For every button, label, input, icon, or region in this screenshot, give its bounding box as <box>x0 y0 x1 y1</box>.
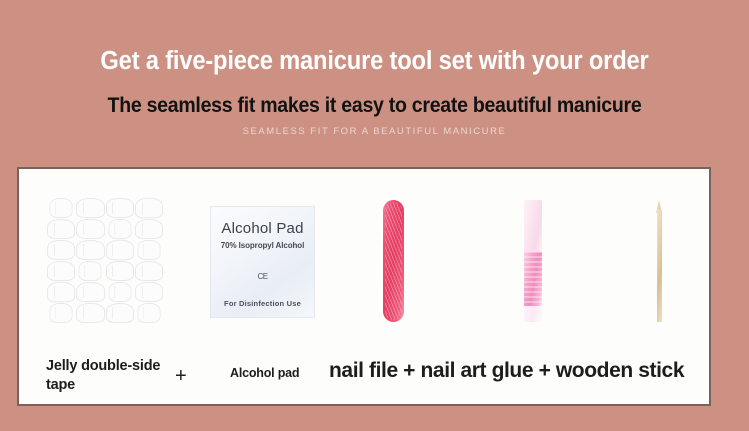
jelly-tab <box>47 219 75 239</box>
product-card: Alcohol Pad 70% Isopropyl Alcohol CE For… <box>17 167 711 406</box>
packet-subtitle: 70% Isopropyl Alcohol <box>211 241 314 250</box>
jelly-tab <box>76 303 104 323</box>
jelly-tab <box>135 219 163 239</box>
page-subtitle: The seamless fit makes it easy to create… <box>26 93 723 119</box>
packet-title: Alcohol Pad <box>211 220 314 238</box>
jelly-tab <box>106 303 134 323</box>
jelly-tab <box>76 282 104 302</box>
jelly-tab <box>50 303 73 323</box>
jelly-tab <box>76 219 104 239</box>
jelly-tab <box>137 240 160 260</box>
label-jelly-tape: Jelly double-side tape <box>46 357 170 395</box>
jelly-tab <box>108 282 131 302</box>
jelly-tab <box>135 261 163 281</box>
jelly-tape-sheet-image <box>47 198 163 323</box>
page-title: Get a five-piece manicure tool set with … <box>26 46 723 76</box>
jelly-tab <box>76 198 104 218</box>
packet-usage-text: For Disinfection Use <box>211 299 314 308</box>
packet-ce-mark: CE <box>211 272 314 281</box>
jelly-tab <box>108 219 131 239</box>
glue-base <box>524 306 542 322</box>
jelly-tab <box>79 261 102 281</box>
glue-body <box>524 252 542 308</box>
jelly-tab <box>135 198 163 219</box>
jelly-tab <box>50 198 73 218</box>
label-alcohol-pad: Alcohol pad <box>230 366 299 380</box>
jelly-tab <box>76 240 104 260</box>
nail-art-glue-image <box>524 200 542 322</box>
jelly-tab <box>106 198 134 218</box>
stick-shaft <box>657 210 662 322</box>
product-label-row: Jelly double-side tape + Alcohol pad nai… <box>19 341 709 406</box>
jelly-tab <box>135 282 163 302</box>
jelly-tab <box>106 240 134 261</box>
jelly-tab <box>47 261 75 281</box>
jelly-tab <box>106 261 134 281</box>
jelly-tab <box>137 303 160 323</box>
product-image-row: Alcohol Pad 70% Isopropyl Alcohol CE For… <box>19 169 709 341</box>
jelly-tab <box>47 240 75 260</box>
label-tools-combo: nail file + nail art glue + wooden stick <box>329 359 684 383</box>
glue-cap <box>524 200 542 254</box>
wooden-stick-image <box>656 200 663 322</box>
alcohol-pad-packet-image: Alcohol Pad 70% Isopropyl Alcohol CE For… <box>210 206 315 318</box>
nail-file-image <box>383 200 404 322</box>
page-tagline: SEAMLESS FIT FOR A BEAUTIFUL MANICURE <box>0 125 749 139</box>
headline-block: Get a five-piece manicure tool set with … <box>0 0 749 139</box>
plus-separator-icon: + <box>175 365 186 388</box>
jelly-tab <box>47 282 75 303</box>
